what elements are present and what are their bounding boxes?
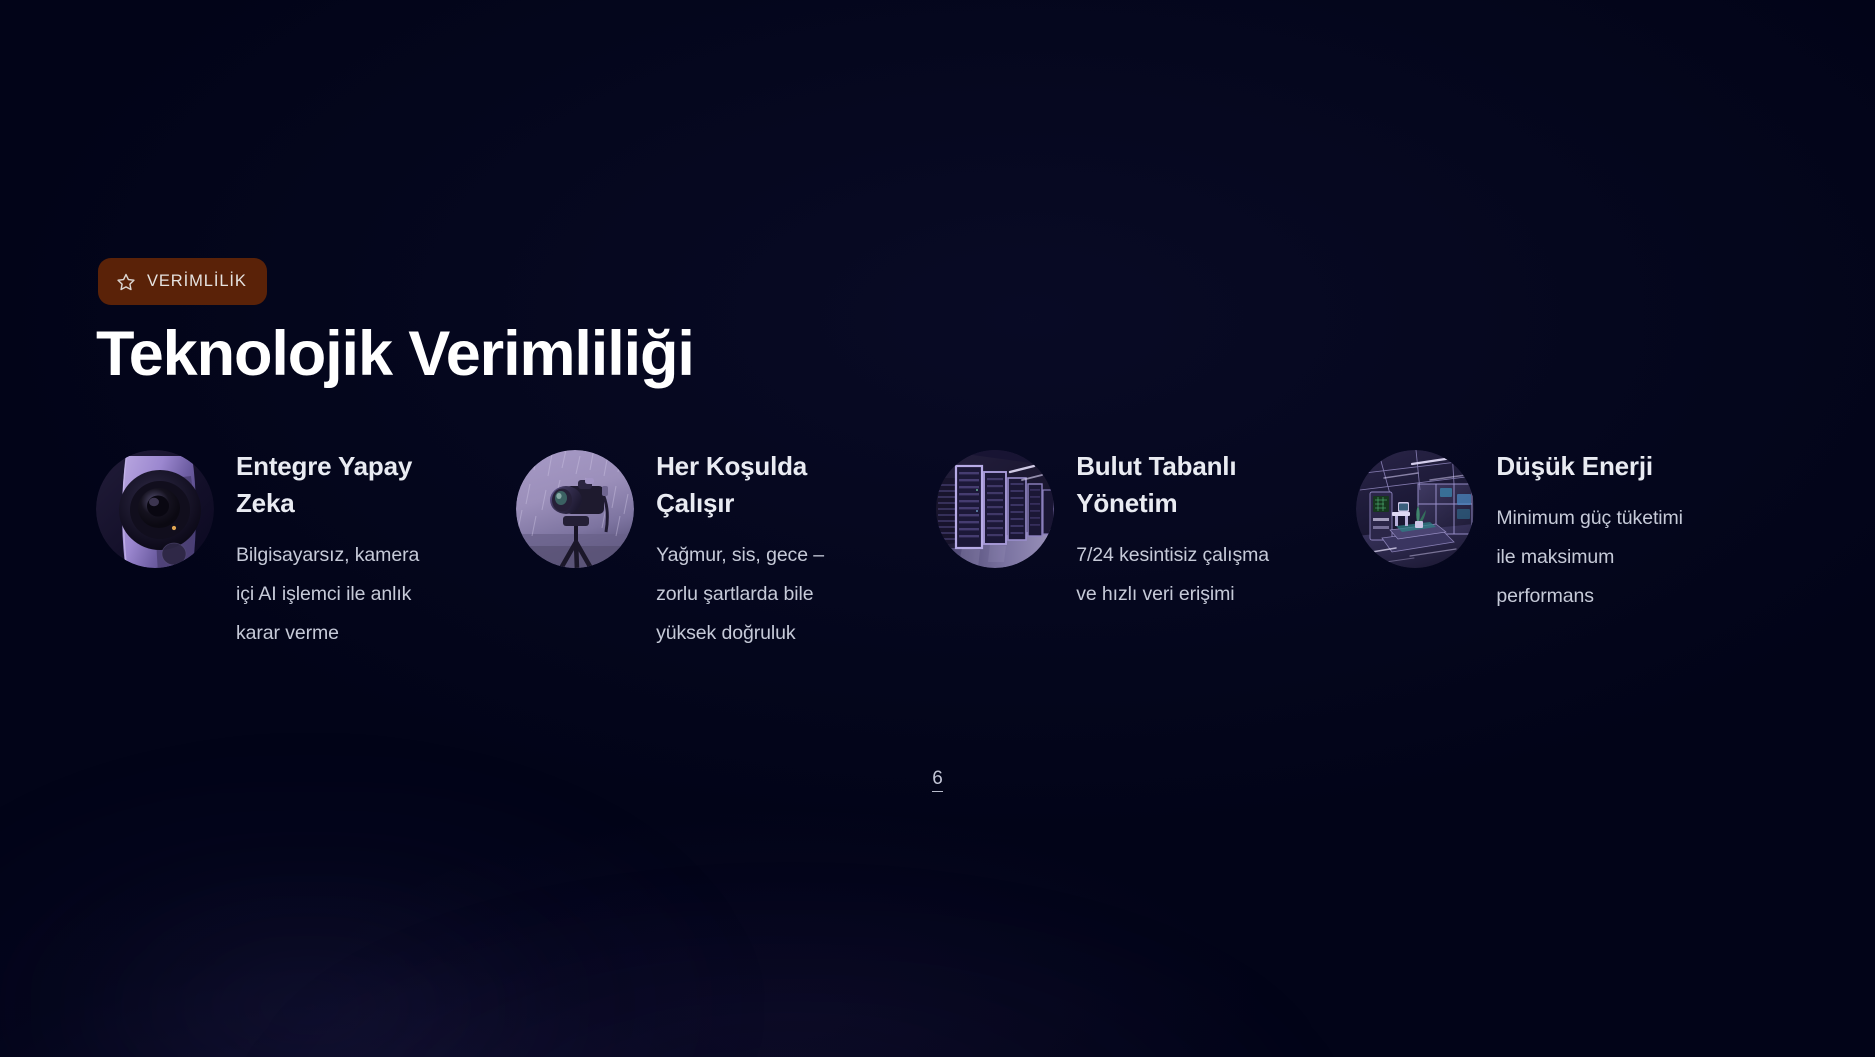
background-glow-center (240, 887, 1340, 1057)
feature-card-text: 7/24 kesintisiz çalışma ve hızlı veri er… (1076, 536, 1276, 614)
feature-card-title: Bulut Tabanlı Yönetim (1076, 448, 1276, 522)
feature-card-text: Bilgisayarsız, kamera içi AI işlemci ile… (236, 536, 441, 653)
feature-card[interactable]: Düşük Enerji Minimum güç tüketimi ile ma… (1356, 446, 1796, 653)
feature-card-title: Her Koşulda Çalışır (656, 448, 871, 522)
slide: VERİMLİLİK Teknolojik Verimliliği (0, 0, 1875, 1057)
feature-card-text: Yağmur, sis, gece – zorlu şartlarda bile… (656, 536, 861, 653)
feature-card[interactable]: Entegre Yapay Zeka Bilgisayarsız, kamera… (96, 446, 516, 653)
feature-card-list: Entegre Yapay Zeka Bilgisayarsız, kamera… (96, 446, 1796, 653)
page-number-value: 6 (932, 768, 943, 792)
feature-card-title: Düşük Enerji (1496, 448, 1686, 485)
feature-card-body: Bulut Tabanlı Yönetim 7/24 kesintisiz ça… (1076, 446, 1276, 614)
camera-tripod-rain-thumbnail (516, 450, 634, 568)
feature-card-body: Her Koşulda Çalışır Yağmur, sis, gece – … (656, 446, 871, 653)
category-badge-label: VERİMLİLİK (147, 272, 247, 291)
star-outline-icon (116, 272, 136, 292)
category-badge[interactable]: VERİMLİLİK (98, 258, 267, 305)
background-glow-left (0, 747, 760, 1057)
feature-card[interactable]: Bulut Tabanlı Yönetim 7/24 kesintisiz ça… (936, 446, 1356, 653)
futuristic-tech-showroom-thumbnail (1356, 450, 1474, 568)
page-title: Teknolojik Verimliliği (96, 320, 694, 388)
feature-card-text: Minimum güç tüketimi ile maksimum perfor… (1496, 499, 1686, 616)
security-camera-lens-thumbnail (96, 450, 214, 568)
page-number: 6 (0, 768, 1875, 790)
feature-card[interactable]: Her Koşulda Çalışır Yağmur, sis, gece – … (516, 446, 936, 653)
data-center-server-racks-thumbnail (936, 450, 1054, 568)
feature-card-title: Entegre Yapay Zeka (236, 448, 451, 522)
feature-card-body: Entegre Yapay Zeka Bilgisayarsız, kamera… (236, 446, 451, 653)
feature-card-body: Düşük Enerji Minimum güç tüketimi ile ma… (1496, 446, 1686, 616)
